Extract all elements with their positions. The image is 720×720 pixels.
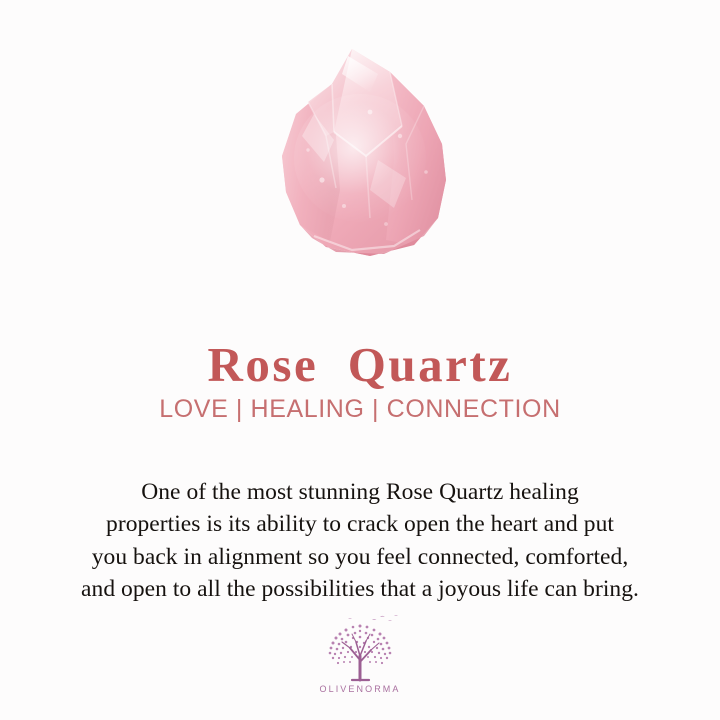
keyword-subtitle: LOVE | HEALING | CONNECTION: [0, 394, 720, 424]
brand-logo: OLIVENORMA: [0, 612, 720, 694]
description-line: and open to all the possibilities that a…: [28, 573, 692, 606]
product-info-card: Rose Quartz LOVE | HEALING | CONNECTION …: [0, 0, 720, 720]
description-line: you back in alignment so you feel connec…: [28, 541, 692, 574]
description-line: properties is its ability to crack open …: [28, 508, 692, 541]
description-paragraph: One of the most stunning Rose Quartz hea…: [28, 476, 692, 606]
page-title: Rose Quartz: [0, 336, 720, 394]
rose-quartz-crystal-image: [274, 40, 454, 265]
tree-logo-icon: [312, 612, 408, 682]
brand-wordmark: OLIVENORMA: [319, 684, 400, 694]
description-line: One of the most stunning Rose Quartz hea…: [28, 476, 692, 509]
